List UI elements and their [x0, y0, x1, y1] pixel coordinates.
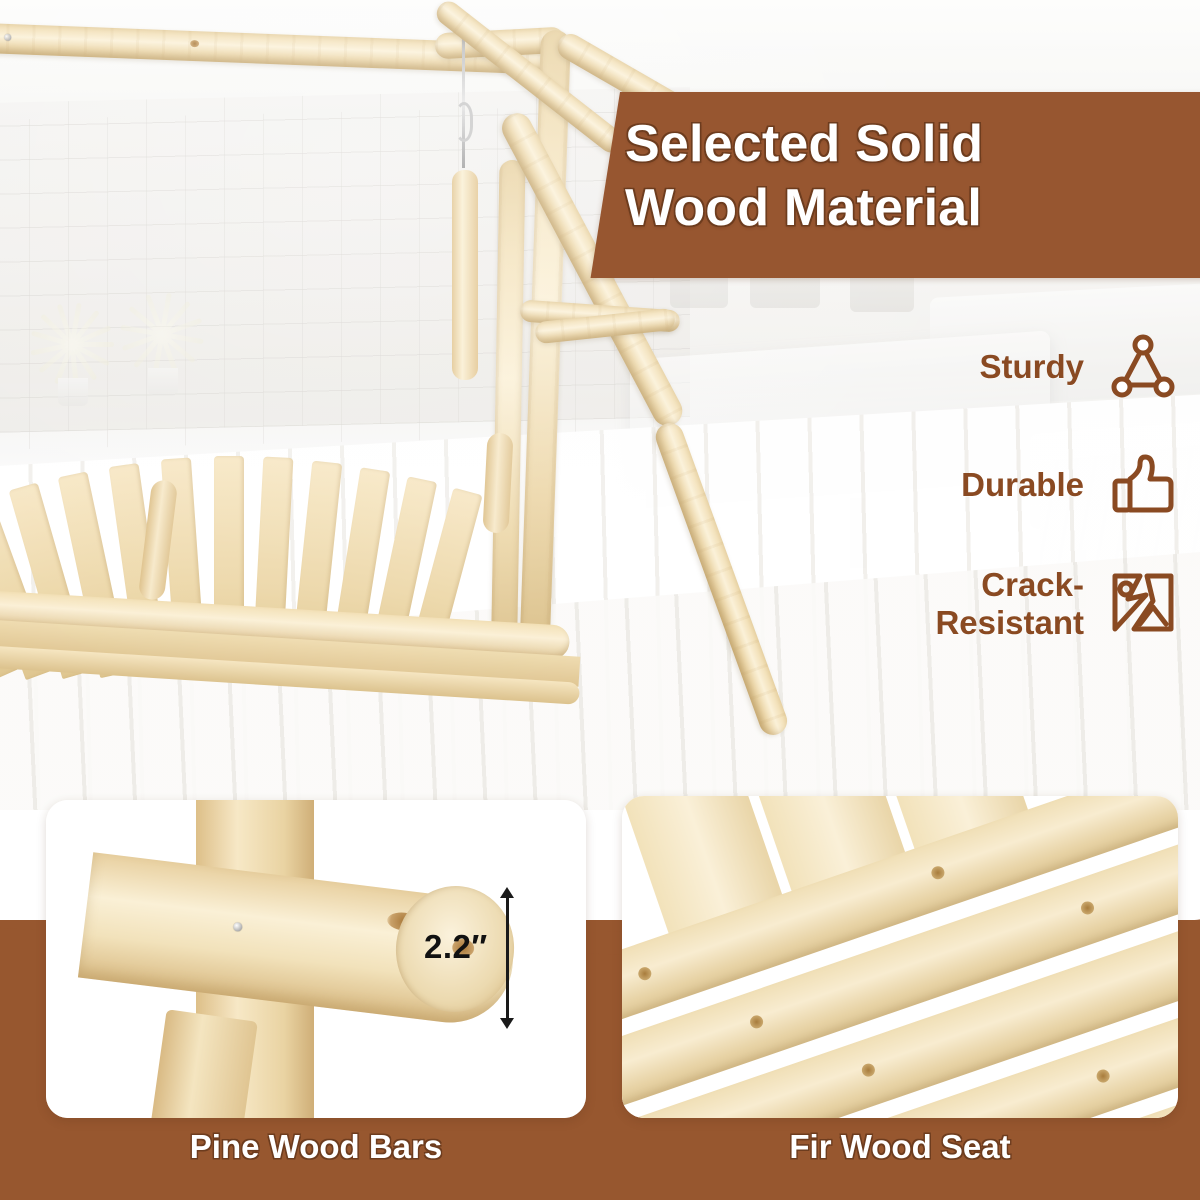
feature-label-line-1: Crack- [935, 566, 1084, 604]
fir-seat-slats [622, 796, 1178, 1118]
s-hook-icon [455, 102, 473, 142]
bench-arm-post [482, 432, 513, 533]
product-infographic: Selected Solid Wood Material Sturdy Dura… [0, 0, 1200, 1200]
cracked-image-icon [1106, 567, 1180, 641]
caption-fir-wood-seat: Fir Wood Seat [622, 1128, 1178, 1166]
detail-card-pine-wood-bars: 2.2″ [46, 800, 586, 1118]
a-frame-leg-lower [652, 419, 791, 739]
feature-label-line-2: Resistant [935, 604, 1084, 642]
truss-triangle-icon [1106, 330, 1180, 404]
potted-plant [30, 300, 116, 386]
headline-text: Selected Solid Wood Material [625, 112, 1200, 272]
feature-item-crack-resistant: Crack- Resistant [820, 566, 1180, 642]
headline-line-1: Selected Solid [625, 112, 1200, 176]
feature-list: Sturdy Durable Crack- [820, 330, 1180, 686]
potted-plant [120, 290, 206, 376]
detail-card-fir-wood-seat [622, 796, 1178, 1118]
feature-label-sturdy: Sturdy [979, 348, 1084, 386]
porch-swing-bench [0, 375, 580, 675]
thumbs-up-icon [1106, 448, 1180, 522]
feature-label-durable: Durable [961, 466, 1084, 504]
feature-item-sturdy: Sturdy [820, 330, 1180, 404]
feature-item-durable: Durable [820, 448, 1180, 522]
dimension-arrow [506, 896, 509, 1020]
hanging-log [452, 170, 478, 380]
feature-label-crack-resistant: Crack- Resistant [935, 566, 1084, 642]
angled-pine-leg [150, 1009, 258, 1118]
caption-pine-wood-bars: Pine Wood Bars [46, 1128, 586, 1166]
dimension-label: 2.2″ [424, 928, 488, 966]
headline-line-2: Wood Material [625, 176, 1200, 240]
